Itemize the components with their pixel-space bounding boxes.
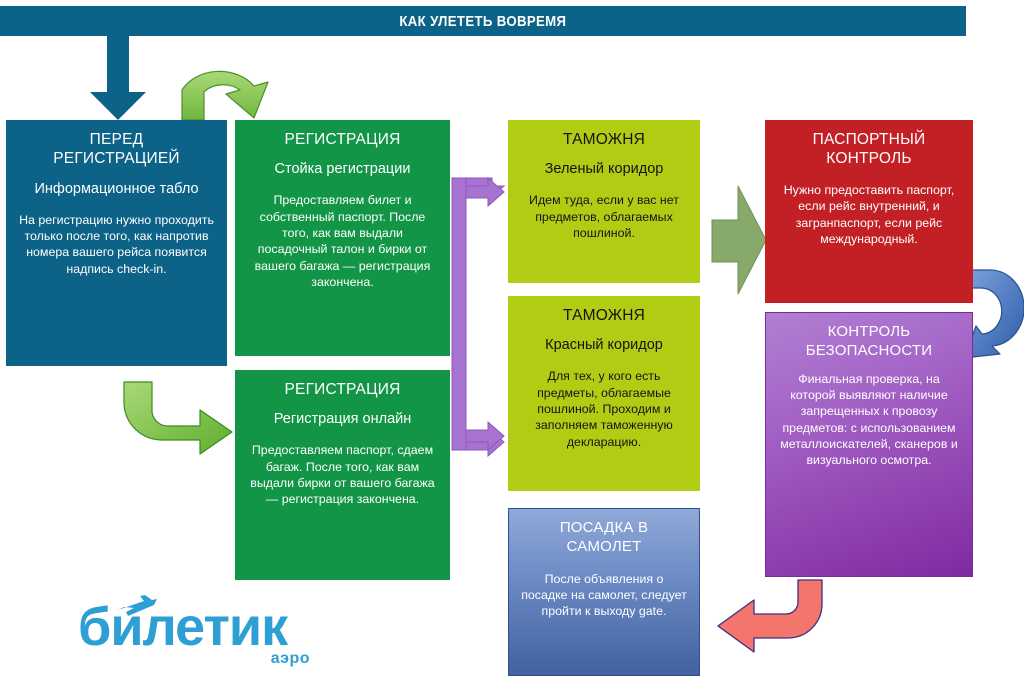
card-registration-desk[interactable]: РЕГИСТРАЦИЯ Стойка регистрации Предостав… [235,120,450,356]
card-title: РЕГИСТРАЦИЯ [247,130,438,149]
card-title: РЕГИСТРАЦИЯ [247,380,438,399]
card-title: ТАМОЖНЯ [520,130,688,149]
bracket-arrow-registration-to-customs [452,178,508,450]
card-passport-control[interactable]: ПАСПОРТНЫЙ КОНТРОЛЬ Нужно предоставить п… [765,120,973,303]
card-customs-red-corridor[interactable]: ТАМОЖНЯ Красный коридор Для тех, у кого … [508,296,700,491]
card-subtitle: Информационное табло [18,180,215,199]
card-security-control[interactable]: КОНТРОЛЬ БЕЗОПАСНОСТИ Финальная проверка… [765,312,973,577]
card-subtitle: Зеленый коридор [520,160,688,179]
card-title: ТАМОЖНЯ [520,306,688,325]
card-body: Предоставляем билет и собственный паспор… [247,192,438,290]
brand-logo[interactable]: билетик аэро [78,600,348,676]
card-pre-registration[interactable]: ПЕРЕД РЕГИСТРАЦИЕЙ Информационное табло … [6,120,227,366]
card-body: Для тех, у кого есть предметы, облагаемы… [520,368,688,450]
card-subtitle: Красный коридор [520,336,688,355]
card-registration-online[interactable]: РЕГИСТРАЦИЯ Регистрация онлайн Предостав… [235,370,450,580]
card-body: Финальная проверка, на которой выявляют … [778,371,960,469]
card-body: Идем туда, если у вас нет предметов, обл… [520,192,688,241]
down-arrow-to-pre [90,34,146,120]
card-subtitle: Стойка регистрации [247,160,438,179]
card-title: ПОСАДКА В САМОЛЕТ [521,519,687,557]
card-title: ПЕРЕД РЕГИСТРАЦИЕЙ [18,130,215,169]
bent-arrow-security-to-boarding [716,580,824,654]
airplane-icon [114,594,158,620]
infographic-canvas: КАК УЛЕТЕТЬ ВОВРЕМЯ [0,0,1024,680]
card-subtitle: Регистрация онлайн [247,410,438,429]
card-title: КОНТРОЛЬ БЕЗОПАСНОСТИ [778,323,960,361]
arrow-customs-to-passport [712,186,766,300]
card-body: После объявления о посадке на самолет, с… [521,571,687,620]
header-banner: КАК УЛЕТЕТЬ ВОВРЕМЯ [0,6,966,36]
page-title: КАК УЛЕТЕТЬ ВОВРЕМЯ [400,13,567,30]
card-boarding[interactable]: ПОСАДКА В САМОЛЕТ После объявления о пос… [508,508,700,676]
curved-arrow-pre-to-registration [178,56,288,126]
card-body: На регистрацию нужно проходить только по… [18,212,215,278]
card-body: Предоставляем паспорт, сдаем багаж. Посл… [247,442,438,508]
card-title: ПАСПОРТНЫЙ КОНТРОЛЬ [777,130,961,169]
bent-arrow-to-online-registration [122,382,234,456]
card-body: Нужно предоставить паспорт, если рейс вн… [777,182,961,248]
card-customs-green-corridor[interactable]: ТАМОЖНЯ Зеленый коридор Идем туда, если … [508,120,700,283]
